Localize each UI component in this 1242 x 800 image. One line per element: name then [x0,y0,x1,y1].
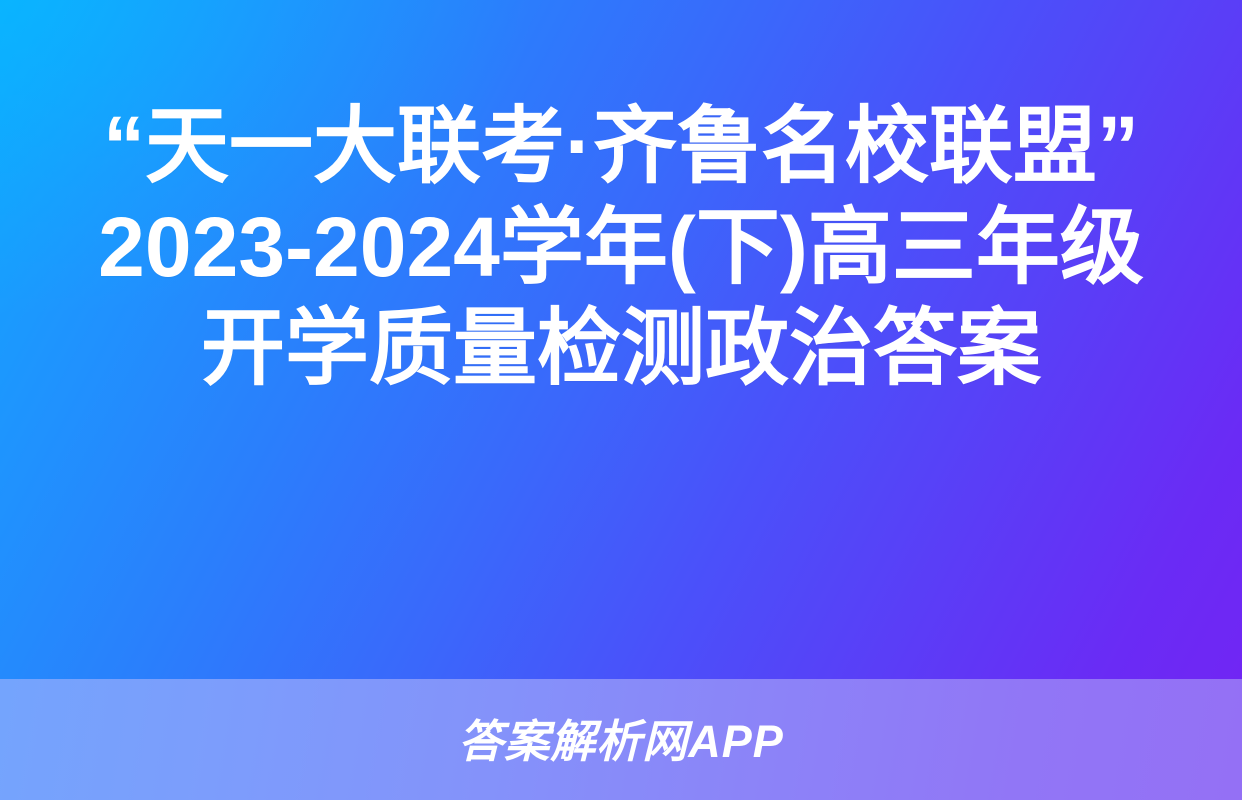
footer-brand-label: 答案解析网APP [458,719,784,764]
footer-brand-band[interactable]: 答案解析网APP [0,679,1242,800]
page-title: “天一大联考·齐鲁名校联盟”2023-2024学年(下)高三年级开学质量检测政治… [88,96,1154,399]
poster-card: “天一大联考·齐鲁名校联盟”2023-2024学年(下)高三年级开学质量检测政治… [0,0,1242,800]
